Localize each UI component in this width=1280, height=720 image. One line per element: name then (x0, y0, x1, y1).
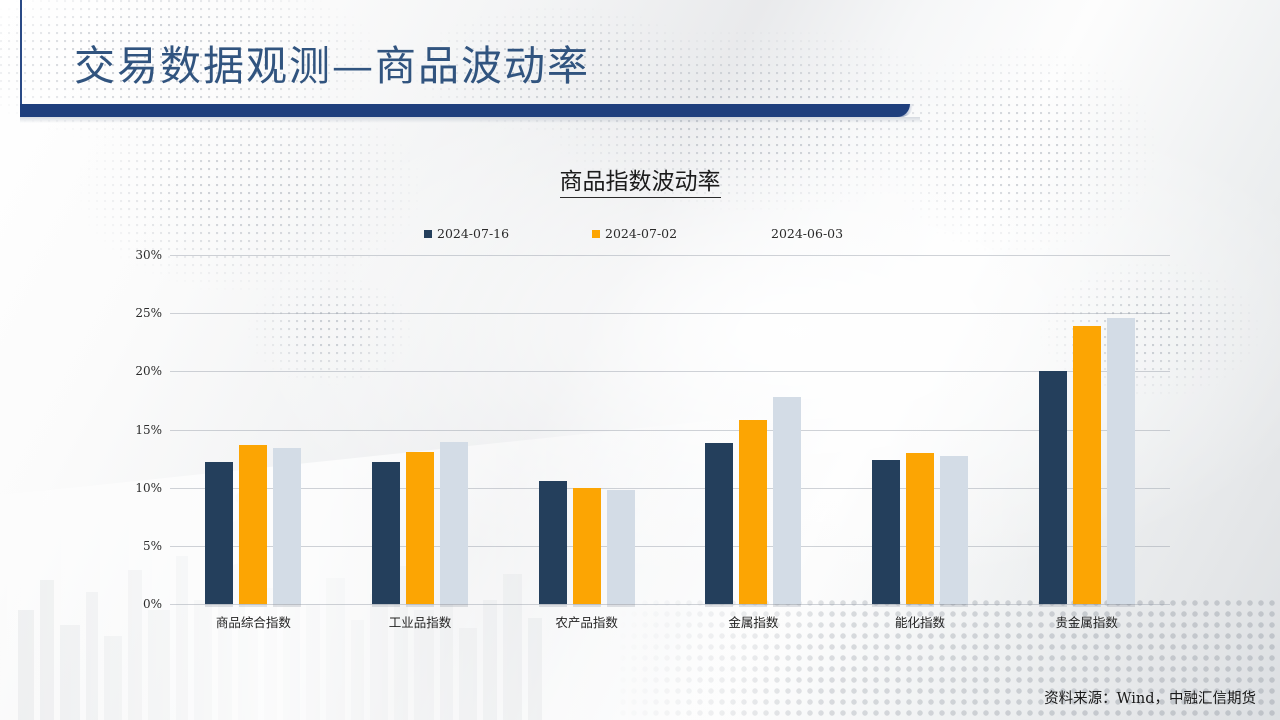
bar[interactable] (1107, 318, 1135, 604)
legend-item[interactable]: 2024-07-02 (592, 226, 677, 241)
chart-legend: 2024-07-162024-07-022024-06-03 (420, 226, 880, 244)
bar[interactable] (440, 442, 468, 604)
chart-title-text: 商品指数波动率 (560, 169, 721, 198)
bar[interactable] (940, 456, 968, 604)
bar-group (837, 255, 1004, 604)
bar[interactable] (739, 420, 767, 604)
source-note: 资料来源：Wind，中融汇信期货 (1044, 687, 1256, 708)
bar[interactable] (1039, 371, 1067, 604)
chart-bar-groups (170, 255, 1170, 604)
bar[interactable] (906, 453, 934, 604)
bar[interactable] (573, 488, 601, 604)
page-title: 交易数据观测—商品波动率 (74, 32, 590, 92)
chart-title: 商品指数波动率 (0, 162, 1280, 196)
bar[interactable] (872, 460, 900, 604)
y-axis-tick-label: 5% (122, 539, 162, 553)
x-axis-tick-label: 农产品指数 (555, 612, 618, 631)
y-axis-tick-label: 30% (122, 248, 162, 262)
bar[interactable] (1073, 326, 1101, 604)
bar-group (1003, 255, 1170, 604)
x-axis-tick-label: 贵金属指数 (1055, 612, 1118, 631)
bar[interactable] (607, 490, 635, 604)
x-axis-tick-label: 金属指数 (728, 612, 778, 631)
bar[interactable] (372, 462, 400, 604)
y-axis-tick-label: 15% (122, 423, 162, 437)
bar[interactable] (406, 452, 434, 604)
header-divider-bar-tip (880, 104, 914, 117)
bar-group (503, 255, 670, 604)
left-accent-rule (20, 0, 22, 104)
bar-group (337, 255, 504, 604)
x-axis-tick-label: 工业品指数 (389, 612, 452, 631)
legend-label: 2024-07-16 (437, 226, 509, 241)
legend-swatch-icon (424, 230, 432, 238)
bar[interactable] (539, 481, 567, 604)
legend-item[interactable]: 2024-06-03 (758, 226, 843, 241)
legend-swatch-icon (758, 230, 766, 238)
x-axis-tick-label: 商品综合指数 (216, 612, 291, 631)
legend-label: 2024-06-03 (771, 226, 843, 241)
header-divider-bar (20, 104, 910, 117)
bar-group (170, 255, 337, 604)
gridline (170, 604, 1170, 605)
bar-group (670, 255, 837, 604)
bar[interactable] (205, 462, 233, 604)
y-axis-tick-label: 10% (122, 481, 162, 495)
bar[interactable] (705, 443, 733, 604)
legend-label: 2024-07-02 (605, 226, 677, 241)
y-axis-tick-label: 25% (122, 306, 162, 320)
slide-canvas: 交易数据观测—商品波动率 商品指数波动率 2024-07-162024-07-0… (0, 0, 1280, 720)
bar[interactable] (239, 445, 267, 604)
x-axis-tick-label: 能化指数 (895, 612, 945, 631)
header-divider-shadow (20, 117, 920, 123)
legend-swatch-icon (592, 230, 600, 238)
y-axis-tick-label: 0% (122, 597, 162, 611)
legend-item[interactable]: 2024-07-16 (424, 226, 509, 241)
bar[interactable] (773, 397, 801, 604)
bar[interactable] (273, 448, 301, 604)
chart-x-axis-labels: 商品综合指数工业品指数农产品指数金属指数能化指数贵金属指数 (170, 612, 1170, 636)
y-axis-tick-label: 20% (122, 364, 162, 378)
